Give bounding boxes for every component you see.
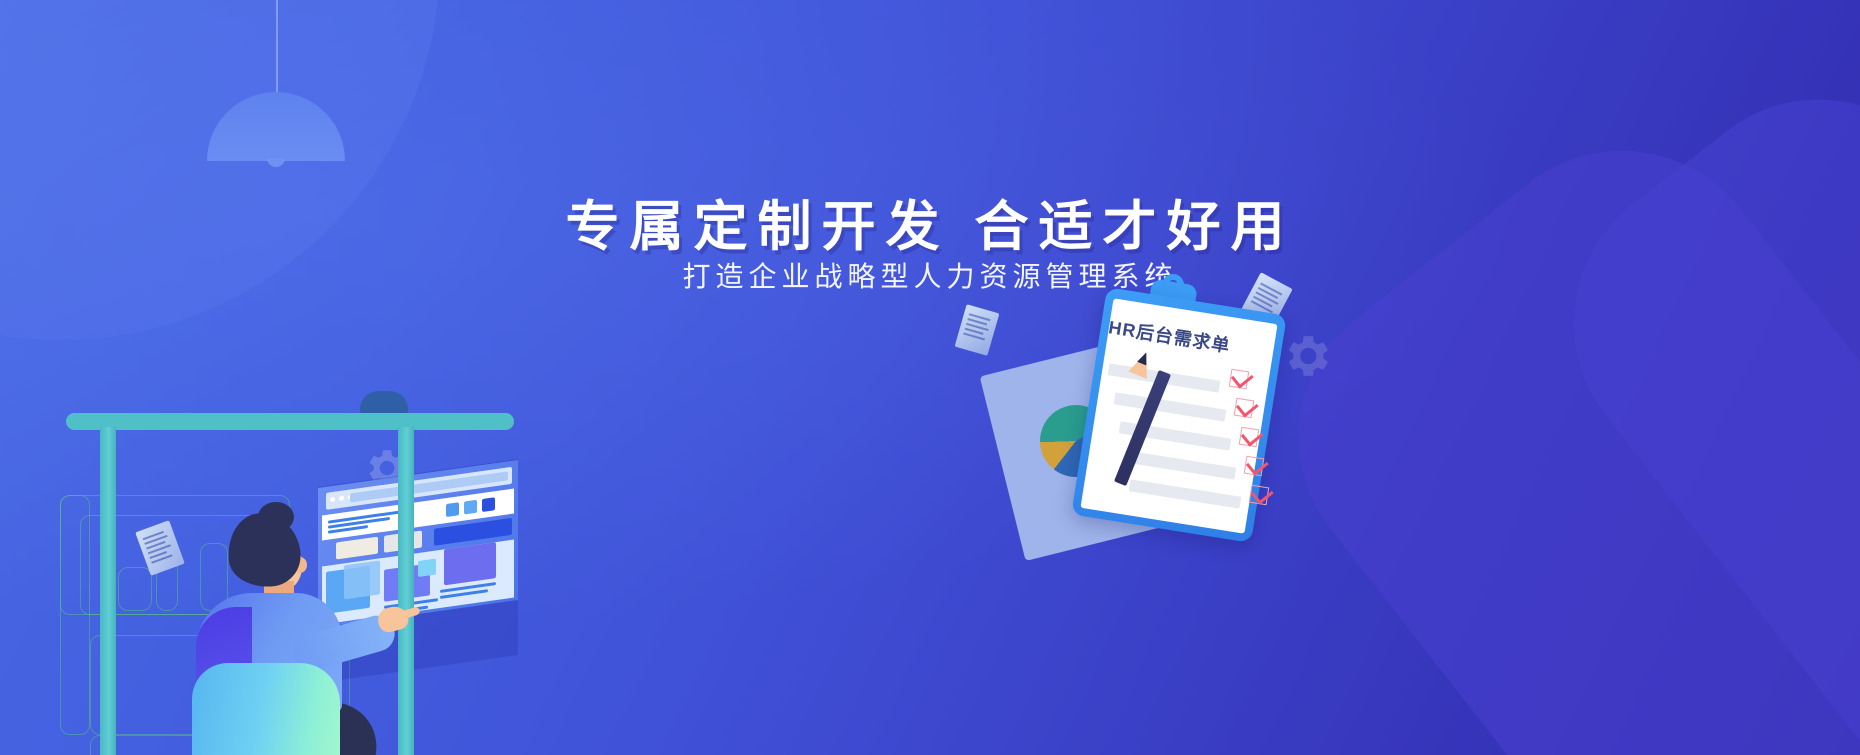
desk-leg-left: [100, 427, 116, 755]
checkbox-checked-5: [1249, 485, 1270, 506]
checkbox-checked-2: [1234, 398, 1255, 419]
monitor-screen: [318, 460, 518, 628]
checkbox-checked-3: [1239, 427, 1260, 448]
desk-surface: [66, 413, 514, 430]
lamp-cord: [276, 0, 278, 95]
checkbox-checked-4: [1244, 456, 1265, 477]
checkbox-checked-1: [1229, 369, 1250, 390]
gear-icon-right: [1278, 328, 1334, 384]
illustration-person-at-desk: [0, 195, 640, 755]
illustration-hr-clipboard: HR后台需求单: [990, 260, 1550, 755]
outline-box-small-a: [118, 567, 152, 611]
hero-banner: 专属定制开发 合适才好用 打造企业战略型人力资源管理系统: [0, 0, 1860, 755]
desk-leg-right: [398, 427, 414, 755]
outline-side-panel: [60, 495, 90, 735]
office-chair-back: [192, 663, 340, 755]
